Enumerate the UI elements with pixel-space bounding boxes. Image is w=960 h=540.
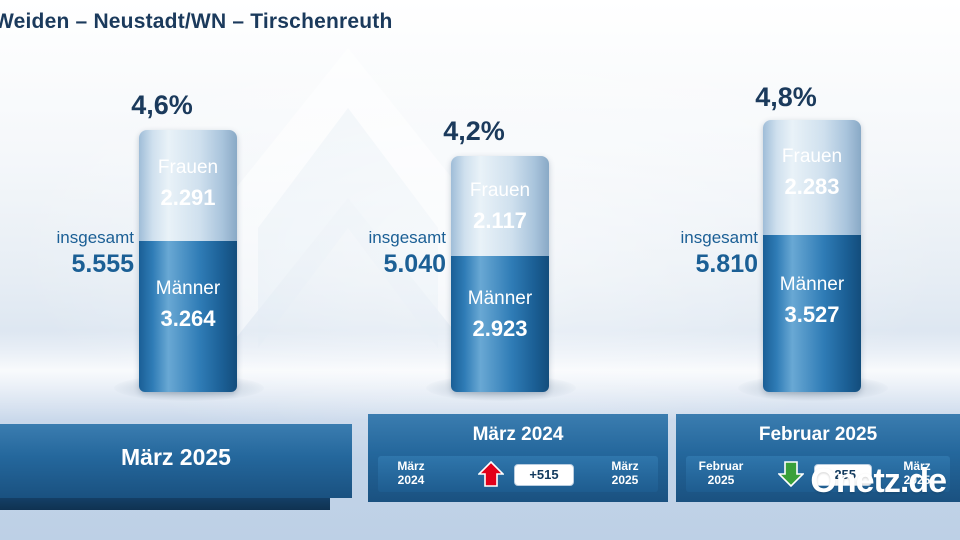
compare-1-right-line1: März [596,459,654,473]
rate-label-3: 4,8% [716,82,856,113]
bar-3-men-label: Männer [763,274,861,296]
compare-2-left-line2: 2025 [690,473,752,487]
compare-2-left-line1: Februar [690,459,752,473]
current-period-bar: März 2025 [0,424,352,498]
compare-panel-maerz-2024: März 2024 März 2024 +515 März 2025 [368,414,668,502]
compare-2-left-period: Februar 2025 [690,459,752,487]
bar-1-cap [139,130,237,140]
compare-1-value: +515 [514,464,574,486]
bar-1-men-value: 3.264 [139,306,237,332]
bar-2-women-segment [451,156,549,256]
bar-3-men-value: 3.527 [763,302,861,328]
rate-label-1: 4,6% [92,90,232,121]
bar-1-women-label: Frauen [139,157,237,179]
bar-1-total-caption: insgesamt [4,228,134,248]
bar-3-cap [763,120,861,130]
bar-1-women-value: 2.291 [139,185,237,211]
arrow-up-icon [478,461,504,487]
bar-2-total: insgesamt 5.040 [316,228,446,279]
bar-2-women-value: 2.117 [451,208,549,234]
chart-canvas: Weiden – Neustadt/WN – Tirschenreuth 4,6… [0,0,960,540]
chevron-watermark-icon [228,48,468,348]
compare-1-header: März 2024 [368,424,668,446]
bar-2-men-label: Männer [451,288,549,310]
page-title: Weiden – Neustadt/WN – Tirschenreuth [0,10,393,34]
bar-3-women-label: Frauen [763,146,861,168]
bar-2-total-value: 5.040 [316,250,446,279]
bar-1-total-value: 5.555 [4,250,134,279]
compare-1-right-line2: 2025 [596,473,654,487]
watermark-logo: Onetz.de [810,462,946,501]
bar-2-cap [451,156,549,166]
current-period-bar-foot [0,498,330,510]
bar-2-women-label: Frauen [451,180,549,202]
bar-1-total: insgesamt 5.555 [4,228,134,279]
bar-3-women-value: 2.283 [763,174,861,200]
bar-2-men-value: 2.923 [451,316,549,342]
compare-1-left-line2: 2024 [382,473,440,487]
compare-1-right-period: März 2025 [596,459,654,487]
bar-3-total: insgesamt 5.810 [628,228,758,279]
bar-1-men-label: Männer [139,278,237,300]
compare-1-row: März 2024 +515 März 2025 [378,456,658,492]
compare-1-left-period: März 2024 [382,459,440,487]
compare-1-left-line1: März [382,459,440,473]
arrow-down-icon [778,461,804,487]
bar-2-total-caption: insgesamt [316,228,446,248]
current-period-label: März 2025 [0,444,352,471]
compare-2-header: Februar 2025 [676,424,960,446]
bar-3-total-value: 5.810 [628,250,758,279]
rate-label-2: 4,2% [404,116,544,147]
bar-3-total-caption: insgesamt [628,228,758,248]
